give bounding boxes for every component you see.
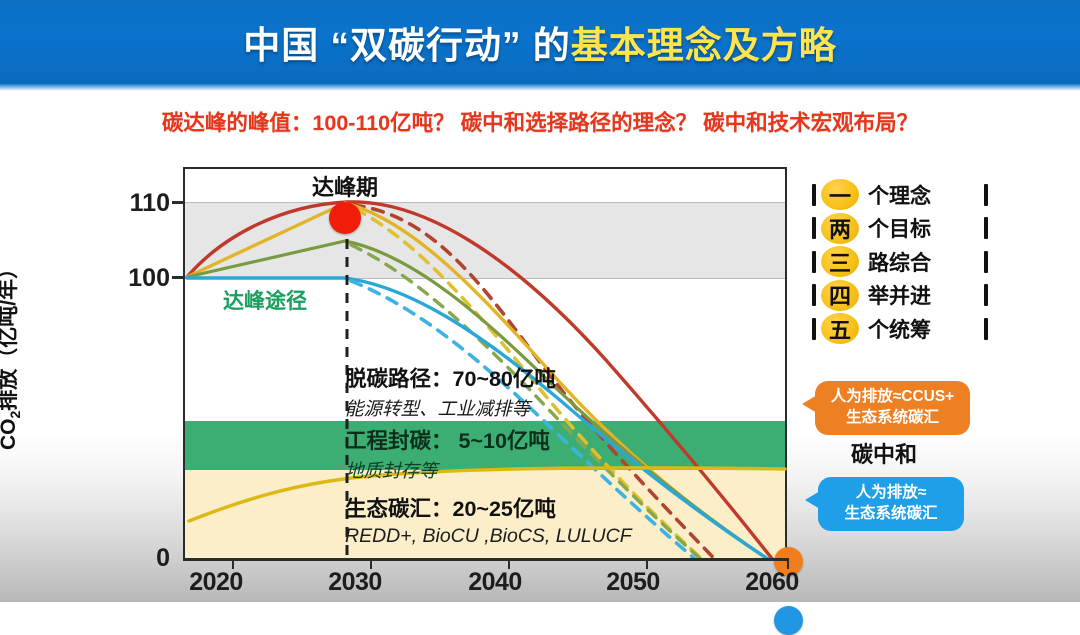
x-tick-label-2020: 2020 xyxy=(189,568,243,597)
endpoint-marker-ecological xyxy=(774,606,803,635)
page-title: 中国 “双碳行动” 的基本理念及方略 xyxy=(243,15,837,69)
legend-item-two-goals[interactable]: 两 个目标 xyxy=(812,212,988,246)
callout-orange-line2: 生态系统碳汇 xyxy=(825,408,960,429)
bar-left-icon xyxy=(812,251,816,273)
annotation-ecological-subtitle: REDD+, BioCU ,BioCS, LULUCF xyxy=(345,525,632,548)
bar-right-icon xyxy=(984,217,988,239)
bar-right-icon xyxy=(984,284,988,306)
bar-left-icon xyxy=(812,318,816,340)
badge-number-icon: 三 xyxy=(821,246,859,277)
x-tick-label-2060: 2060 xyxy=(745,568,799,597)
annotation-ecological-title: 生态碳汇：20~25亿吨 xyxy=(345,492,632,523)
annotation-ecological-sink: 生态碳汇：20~25亿吨 REDD+, BioCU ,BioCS, LULUCF xyxy=(345,492,632,548)
y-tick-label-100: 100 xyxy=(100,264,170,293)
bar-right-icon xyxy=(984,318,988,340)
legend-item-four-actions[interactable]: 四 举并进 xyxy=(812,279,988,313)
x-axis-line xyxy=(183,558,789,561)
principles-legend: 一 个理念 两 个目标 三 路综合 四 举并进 五 个统筹 xyxy=(812,178,988,346)
peak-period-label: 达峰期 xyxy=(312,170,378,202)
legend-item-label: 个目标 xyxy=(864,213,979,243)
peak-pathway-label: 达峰途径 xyxy=(223,285,307,315)
x-tick-label-2040: 2040 xyxy=(468,568,522,597)
legend-item-label: 路综合 xyxy=(864,247,979,277)
title-banner: 中国 “双碳行动” 的基本理念及方略 xyxy=(0,0,1080,84)
y-tick-label-0: 0 xyxy=(120,544,170,573)
bar-right-icon xyxy=(984,251,988,273)
legend-item-three-routes[interactable]: 三 路综合 xyxy=(812,245,988,279)
page-title-yellow-part: 基本理念及方略 xyxy=(571,25,837,66)
callout-ecological-carbon-neutral: 人为排放≈ 生态系统碳汇 xyxy=(818,477,964,531)
callout-blue-line2: 生态系统碳汇 xyxy=(828,504,954,525)
badge-number-icon: 五 xyxy=(821,313,859,344)
legend-item-label: 个统筹 xyxy=(864,314,979,344)
y-tick-label-110: 110 xyxy=(100,189,170,218)
subtitle-question-line: 碳达峰的峰值：100-110亿吨？ 碳中和选择路径的理念？ 碳中和技术宏观布局？ xyxy=(0,106,1080,137)
x-tick-label-2030: 2030 xyxy=(328,568,382,597)
annotation-engineering-subtitle: 地质封存等 xyxy=(345,457,550,483)
y-axis-title: CO2排放（亿吨/年） xyxy=(0,210,23,450)
legend-item-label: 个理念 xyxy=(864,180,979,210)
callout-ccus-carbon-neutral: 人为排放≈CCUS+ 生态系统碳汇 xyxy=(815,381,970,435)
callout-blue-line1: 人为排放≈ xyxy=(828,483,954,504)
bar-left-icon xyxy=(812,284,816,306)
annotation-decarbonization-subtitle: 能源转型、工业减排等 xyxy=(345,395,556,421)
annotation-engineering-title: 工程封碳： 5~10亿吨 xyxy=(345,424,550,455)
annotation-decarbonization-path: 脱碳路径：70~80亿吨 能源转型、工业减排等 xyxy=(345,362,556,421)
annotation-decarbonization-title: 脱碳路径：70~80亿吨 xyxy=(345,362,556,393)
carbon-neutral-label: 碳中和 xyxy=(851,437,917,469)
bar-right-icon xyxy=(984,184,988,206)
callout-tail-orange xyxy=(802,395,817,413)
legend-item-label: 举并进 xyxy=(864,280,979,310)
bar-left-icon xyxy=(812,184,816,206)
banner-underline xyxy=(0,84,1080,91)
bar-left-icon xyxy=(812,217,816,239)
badge-number-icon: 四 xyxy=(821,280,859,311)
x-tick-label-2050: 2050 xyxy=(606,568,660,597)
page-title-white-part: 中国 “双碳行动” 的 xyxy=(243,25,571,66)
legend-item-five-coordinations[interactable]: 五 个统筹 xyxy=(812,312,988,346)
badge-number-icon: 两 xyxy=(821,213,859,244)
callout-orange-line1: 人为排放≈CCUS+ xyxy=(825,387,960,408)
peak-point-marker xyxy=(329,202,361,234)
annotation-engineering-carbon: 工程封碳： 5~10亿吨 地质封存等 xyxy=(345,424,550,483)
callout-tail-blue xyxy=(805,491,820,509)
badge-number-icon: 一 xyxy=(821,179,859,210)
legend-item-one-concept[interactable]: 一 个理念 xyxy=(812,178,988,212)
